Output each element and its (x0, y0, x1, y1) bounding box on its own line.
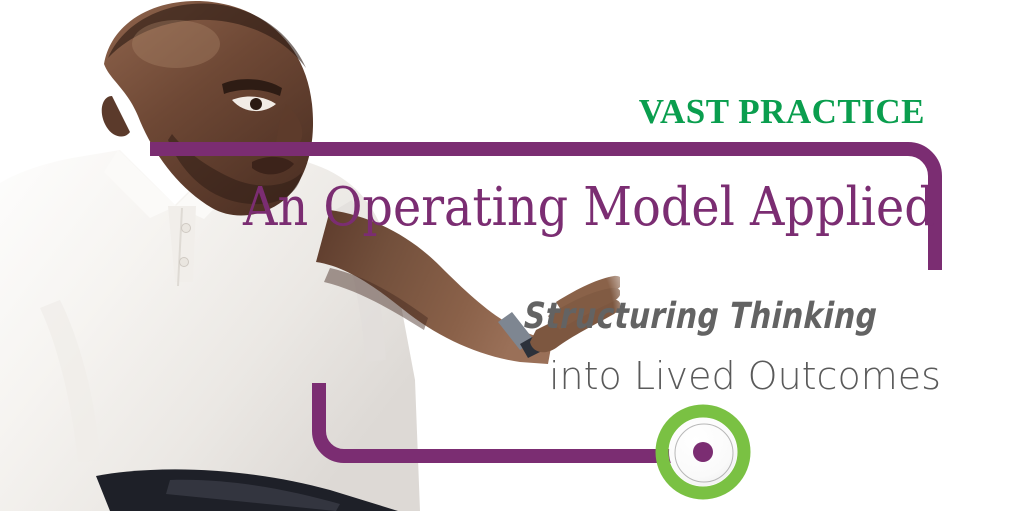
badge-center-dot (693, 442, 713, 462)
subtitle-line-2: into Lived Outcomes (549, 354, 941, 398)
person-photo (0, 0, 620, 511)
banner-root: VAST PRACTICE An Operating Model Applied… (0, 0, 1011, 511)
page-title: An Operating Model Applied (243, 180, 935, 236)
subtitle-line-1: Structuring Thinking (523, 296, 878, 337)
eyebrow-text: VAST PRACTICE (639, 92, 925, 132)
target-circle-badge (655, 404, 751, 500)
